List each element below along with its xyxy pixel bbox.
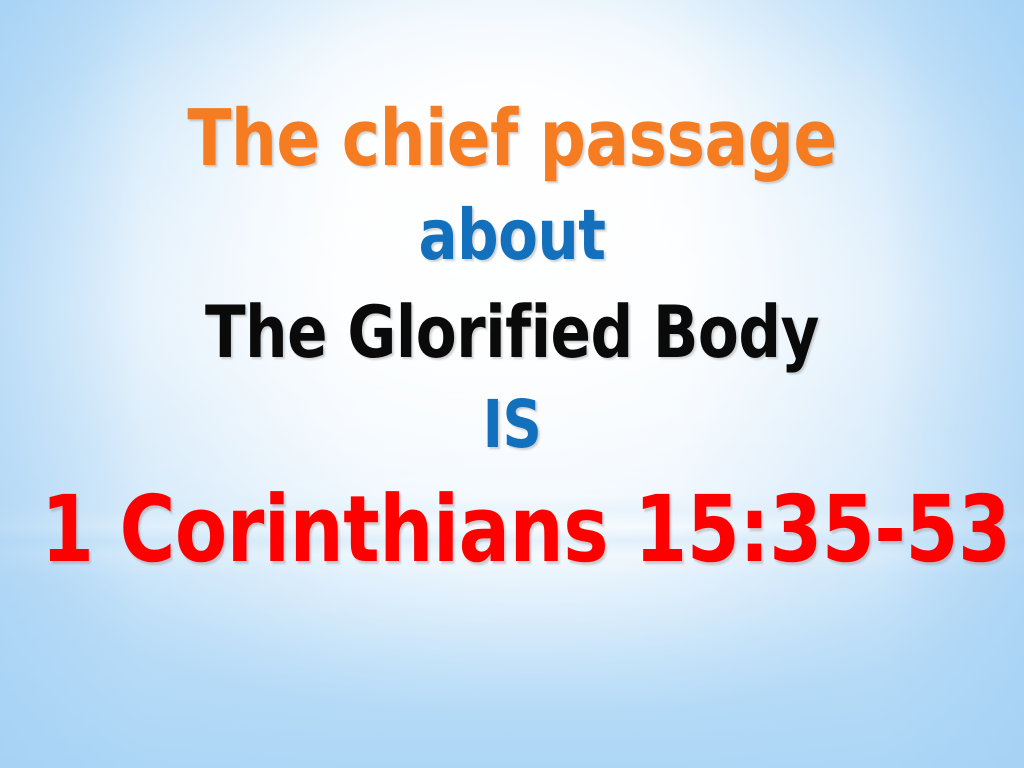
slide-scripture-reference: 1 Corinthians 15:35-53 [41,484,983,576]
slide-headline-line-3: The Glorified Body [41,296,983,368]
slide-headline-line-1: The chief passage [41,100,983,178]
slide-text-block: The chief passage about The Glorified Bo… [0,0,1024,768]
slide-headline-line-4: IS [41,392,983,458]
presentation-slide: The chief passage about The Glorified Bo… [0,0,1024,768]
slide-headline-line-2: about [41,200,983,270]
